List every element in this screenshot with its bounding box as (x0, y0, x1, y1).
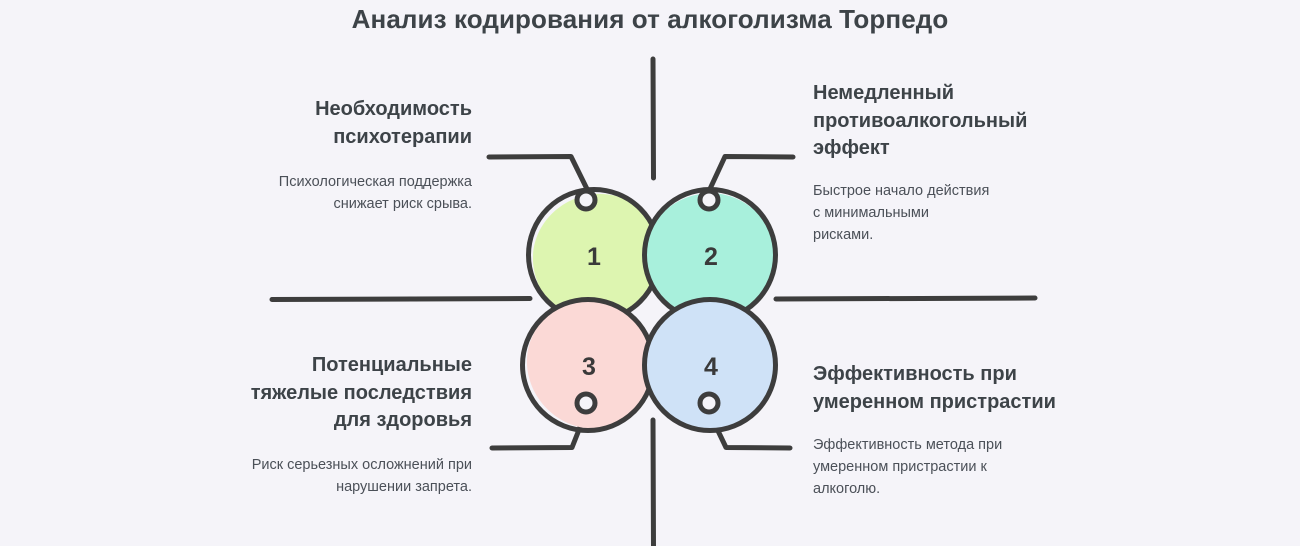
quadrant-block-4: Эффективность при умеренном пристрастии … (813, 361, 1063, 500)
connector-ring-2 (700, 191, 718, 209)
connector-ring-1 (577, 191, 595, 209)
circle-number-3: 3 (582, 353, 596, 381)
horizontal-axis-right (776, 298, 1035, 299)
infographic-canvas: Анализ кодирования от алкоголизма Торпед… (0, 0, 1300, 546)
venn-diagram: 1 2 3 4 (0, 0, 1300, 546)
quadrant-block-1: Необходимость психотерапии Психологическ… (232, 96, 472, 215)
connector-ring-3 (577, 394, 595, 412)
quadrant-body-2: Быстрое начало действия с минимальными р… (813, 180, 993, 246)
quadrant-body-4: Эффективность метода при умеренном прист… (813, 434, 1018, 500)
vertical-axis-top (653, 59, 654, 178)
quadrant-heading-2: Немедленный противоалкогольный эффект (813, 80, 1065, 163)
connector-ring-4 (700, 394, 718, 412)
circle-group-4[interactable]: 4 (638, 294, 780, 435)
connector-2 (709, 157, 793, 192)
quadrant-body-1: Психологическая поддержка снижает риск с… (232, 171, 472, 215)
quadrant-block-3: Потенциальные тяжелые последствия для зд… (232, 352, 472, 498)
quadrant-heading-1: Необходимость психотерапии (232, 96, 472, 151)
quadrant-body-3: Риск серьезных осложнений при нарушении … (232, 454, 472, 498)
circle-number-4: 4 (704, 353, 718, 381)
circle-number-1: 1 (587, 243, 601, 271)
vertical-axis-bottom (653, 420, 654, 546)
quadrant-block-2: Немедленный противоалкогольный эффект Бы… (813, 80, 1065, 246)
quadrant-heading-3: Потенциальные тяжелые последствия для зд… (232, 352, 472, 435)
horizontal-axis-left (272, 299, 530, 300)
circle-number-2: 2 (704, 243, 718, 271)
quadrant-heading-4: Эффективность при умеренном пристрастии (813, 361, 1063, 416)
connector-1 (489, 157, 588, 192)
